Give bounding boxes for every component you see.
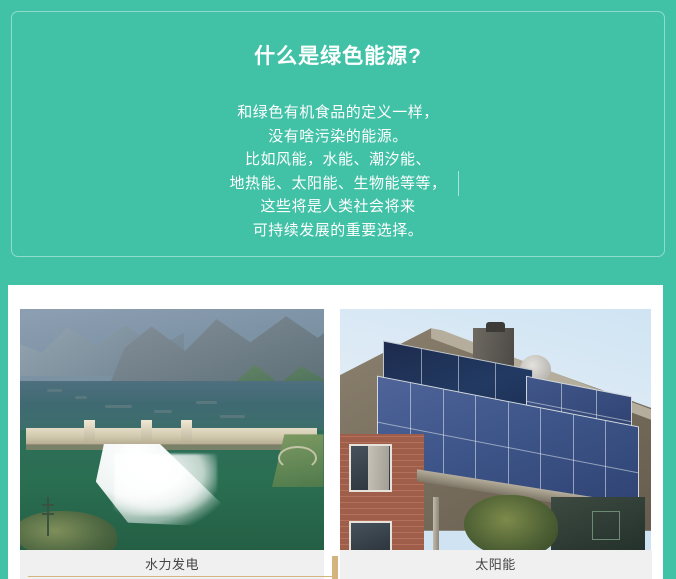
hero-section: 什么是绿色能源? 和绿色有机食品的定义一样， 没有啥污染的能源。 比如风能，水能… bbox=[0, 0, 676, 270]
content-card: 水力发电 bbox=[8, 285, 663, 579]
hero-line: 地热能、太阳能、生物能等等， bbox=[0, 172, 676, 196]
rooftop-solar-panels-photo[interactable] bbox=[340, 309, 652, 550]
figure-caption: 太阳能 bbox=[340, 550, 652, 579]
text-caret bbox=[458, 171, 459, 196]
figure-divider bbox=[332, 556, 338, 579]
hero-paragraph: 和绿色有机食品的定义一样， 没有啥污染的能源。 比如风能，水能、潮汐能、 地热能… bbox=[0, 101, 676, 242]
figure-caption: 水力发电 bbox=[20, 550, 324, 579]
hero-line: 没有啥污染的能源。 bbox=[0, 125, 676, 149]
hero-line: 比如风能，水能、潮汐能、 bbox=[0, 148, 676, 172]
hero-line: 可持续发展的重要选择。 bbox=[0, 219, 676, 243]
gallery-figure-solar[interactable]: 太阳能 bbox=[336, 285, 664, 579]
dam-illustration bbox=[20, 309, 324, 550]
hero-line: 这些将是人类社会将来 bbox=[0, 195, 676, 219]
image-gallery: 水力发电 bbox=[8, 285, 663, 579]
page-root: 什么是绿色能源? 和绿色有机食品的定义一样， 没有啥污染的能源。 比如风能，水能… bbox=[0, 0, 676, 579]
hero-line: 和绿色有机食品的定义一样， bbox=[0, 101, 676, 125]
page-title: 什么是绿色能源? bbox=[0, 40, 676, 70]
gallery-figure-hydro[interactable]: 水力发电 bbox=[8, 285, 336, 579]
caption-underline bbox=[28, 576, 332, 577]
solar-illustration bbox=[340, 309, 652, 550]
hydroelectric-dam-photo[interactable] bbox=[20, 309, 324, 550]
